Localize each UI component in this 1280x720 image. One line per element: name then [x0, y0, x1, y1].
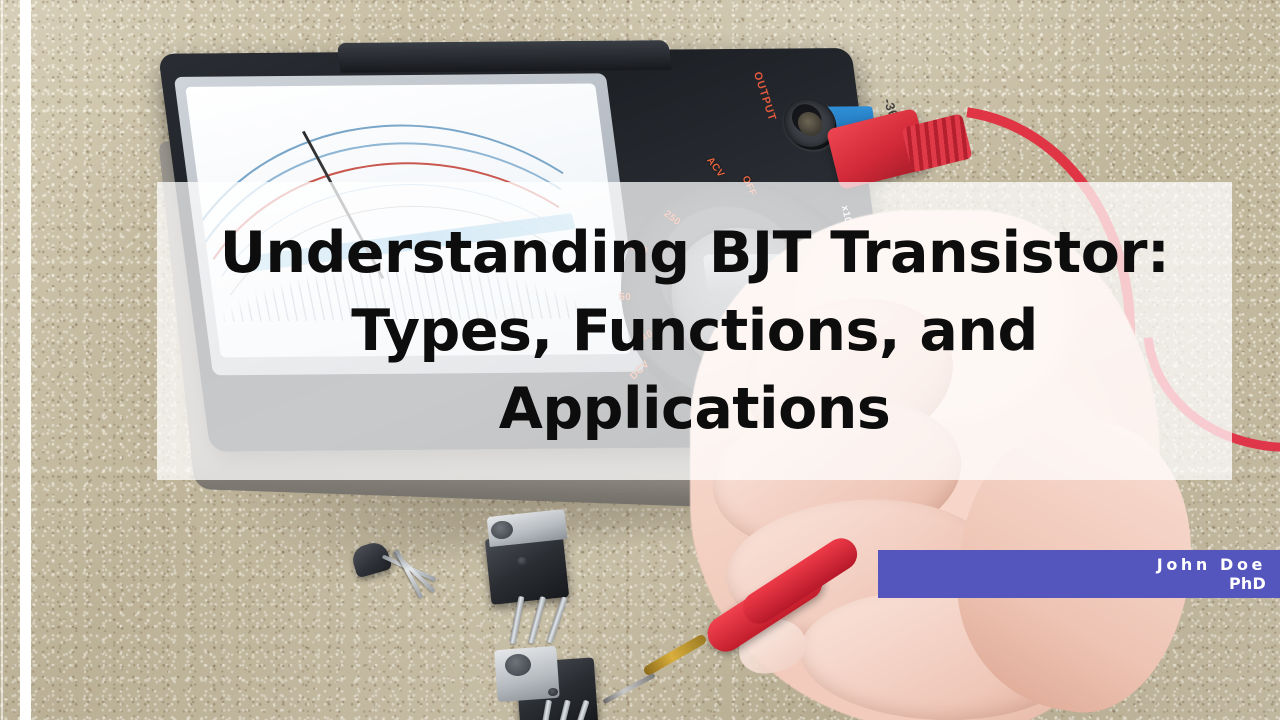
page-title: Understanding BJT Transistor: Types, Fun… — [157, 214, 1232, 448]
author-role: PhD — [1229, 574, 1266, 593]
title-panel: Understanding BJT Transistor: Types, Fun… — [157, 182, 1232, 480]
title-slide: -361TR OFF ACV DCV x10K x1K x100 x10 x1 … — [0, 0, 1280, 720]
multimeter-top-cap — [337, 40, 672, 73]
author-name: John Doe — [1157, 555, 1266, 574]
author-badge: John Doe PhD — [878, 550, 1280, 598]
accent-stripe-thin — [1, 0, 3, 720]
accent-stripe — [20, 0, 31, 720]
